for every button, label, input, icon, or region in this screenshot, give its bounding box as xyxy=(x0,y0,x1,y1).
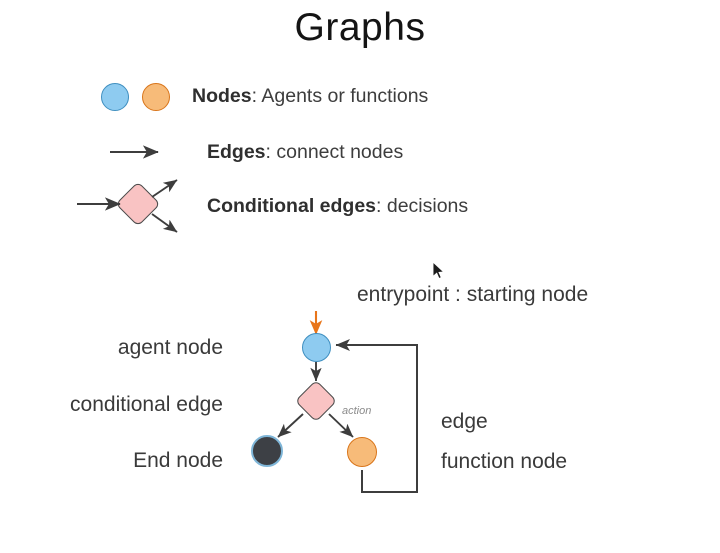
diagram-node-function[interactable] xyxy=(347,437,377,467)
legend-item-edges: Edges: connect nodes xyxy=(207,143,403,163)
legend-item-conditional-edges: Conditional edges: decisions xyxy=(207,197,468,217)
diagram-label-action: action xyxy=(342,406,371,417)
legend-node-circle-blue xyxy=(101,83,129,111)
diagram-label-entrypoint: entrypoint : starting node xyxy=(357,284,588,305)
diagram-node-agent[interactable] xyxy=(302,333,331,362)
legend-conditional-branch-down-arrow-icon xyxy=(152,214,177,232)
legend-desc-conditional-edges: decisions xyxy=(387,195,468,217)
legend-item-nodes: Nodes: Agents or functions xyxy=(192,87,428,107)
legend-desc-edges: connect nodes xyxy=(276,141,403,163)
legend-desc-nodes: Agents or functions xyxy=(261,85,428,107)
diagram-label-edge: edge xyxy=(441,411,488,432)
diagram-label-agent-node: agent node xyxy=(0,337,223,358)
diagram-label-end-node: End node xyxy=(0,450,223,471)
edge-conditional-to-end xyxy=(278,414,303,437)
legend-term-conditional-edges: Conditional edges xyxy=(207,195,376,217)
legend-node-circle-orange xyxy=(142,83,170,111)
mouse-cursor-icon xyxy=(432,261,446,281)
slide-canvas: Graphs Nodes: Agents or functions Edges:… xyxy=(0,0,720,553)
diagram-node-end[interactable] xyxy=(251,435,283,467)
diagram-node-conditional-edge[interactable] xyxy=(295,380,337,422)
legend-separator-edges: : xyxy=(266,141,277,163)
legend-separator-conditional-edges: : xyxy=(376,195,387,217)
legend-separator-nodes: : xyxy=(252,85,262,107)
legend-term-nodes: Nodes xyxy=(192,85,252,107)
legend-conditional-diamond-icon xyxy=(115,181,160,226)
diagram-label-function-node: function node xyxy=(441,451,567,472)
legend-term-edges: Edges xyxy=(207,141,266,163)
edge-function-to-agent-loop xyxy=(336,345,417,492)
edge-conditional-to-function xyxy=(329,414,353,437)
legend-conditional-branch-up-arrow-icon xyxy=(152,180,177,197)
diagram-label-conditional-edge: conditional edge xyxy=(0,394,223,415)
page-title: Graphs xyxy=(0,6,720,50)
